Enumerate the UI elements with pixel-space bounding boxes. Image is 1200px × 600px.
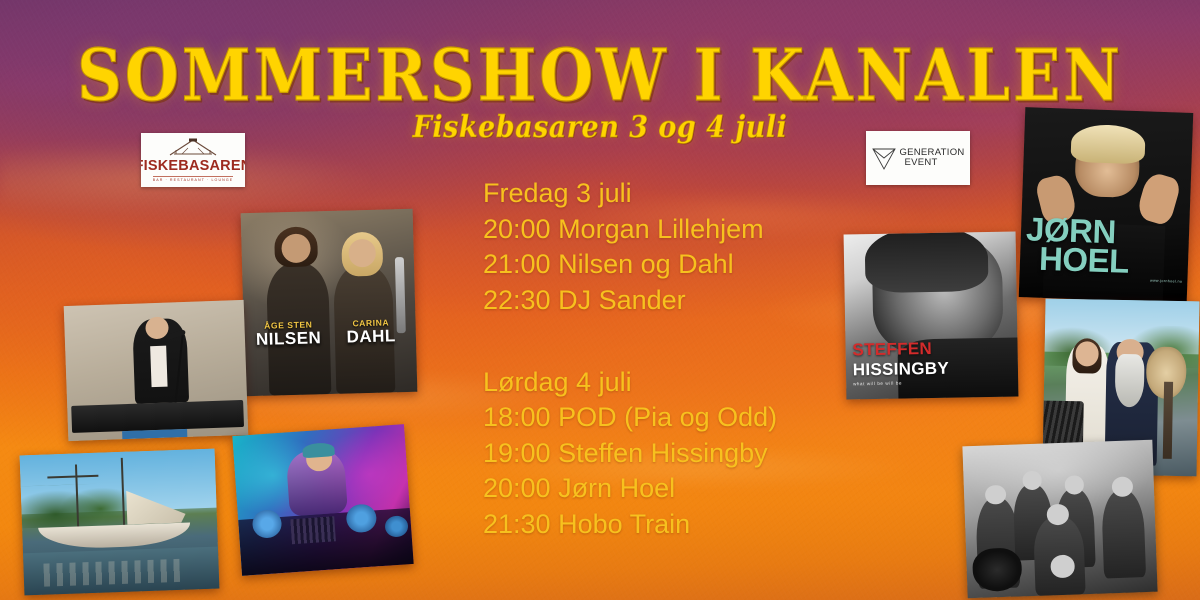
fiskebasaren-logo-tagline: BAR · RESTAURANT · LOUNGE (153, 176, 233, 183)
morgan-lillehjem-photo (64, 300, 249, 441)
steffen-last-name: HISSINGBY (853, 359, 950, 380)
dj-mixer (290, 516, 336, 544)
nilsen-last-name: NILSEN (247, 329, 330, 348)
band-member-2-head (1022, 471, 1042, 490)
event-poster: SOMMERSHOW I KANALEN Fiskebasaren 3 og 4… (0, 0, 1200, 600)
steffen-hair (864, 232, 989, 294)
schedule-act-saturday-1: 18:00 POD (Pia og Odd) (483, 400, 913, 436)
nilsen-dahl-captions: ÅGE STEN NILSEN CARINA DAHL (243, 317, 416, 348)
jorn-hoel-line2: HOEL (1025, 244, 1184, 278)
steffen-first-name: STEFFEN (852, 339, 932, 359)
guitar-neck (1163, 381, 1174, 458)
jorn-hoel-photo: JØRN HOEL www.jornhoel.no (1019, 107, 1194, 303)
nilsen-og-dahl-photo: ÅGE STEN NILSEN CARINA DAHL (241, 209, 418, 396)
keyboard-instrument (71, 400, 245, 433)
nilsen-caption: ÅGE STEN NILSEN (247, 319, 330, 348)
fiskebasaren-logo-name: FISKEBASAREN (141, 159, 245, 174)
generation-event-triangle-icon (871, 145, 897, 171)
steffen-hissingby-photo: STEFFEN HISSINGBY what will be will be (844, 232, 1019, 400)
jorn-hand-right (1136, 171, 1183, 226)
pia-head (1075, 341, 1099, 366)
steffen-caption: STEFFEN HISSINGBY what will be will be (852, 337, 1011, 386)
schedule-act-saturday-3: 20:00 Jørn Hoel (483, 471, 913, 507)
band-member-3-head (1064, 476, 1084, 495)
schedule-day-label-friday: Fredag 3 juli (483, 176, 913, 212)
hobo-train-photo (962, 440, 1157, 599)
schedule-act-saturday-2: 19:00 Steffen Hissingby (483, 436, 913, 472)
fiskebasaren-logo: FISKEBASAREN BAR · RESTAURANT · LOUNGE (141, 133, 245, 187)
boat-hull (38, 522, 191, 550)
poster-title: SOMMERSHOW I KANALEN (0, 34, 1200, 117)
generation-event-line2: EVENT (899, 158, 964, 168)
jorn-hair (1071, 124, 1146, 165)
singer-shirt (150, 346, 168, 387)
water-reflection (43, 559, 180, 586)
dahl-head (348, 239, 376, 267)
fiskebasaren-roof-icon (162, 138, 224, 158)
schedule-act-saturday-4: 21:30 Hobo Train (483, 507, 913, 543)
dj-sander-photo (232, 424, 413, 576)
jorn-hoel-name: JØRN HOEL (1025, 215, 1185, 277)
dahl-caption: CARINA DAHL (329, 317, 412, 346)
sailboat-photo (20, 449, 220, 596)
jorn-hoel-caption: JØRN HOEL www.jornhoel.no (1024, 215, 1184, 283)
dahl-last-name: DAHL (330, 327, 413, 346)
